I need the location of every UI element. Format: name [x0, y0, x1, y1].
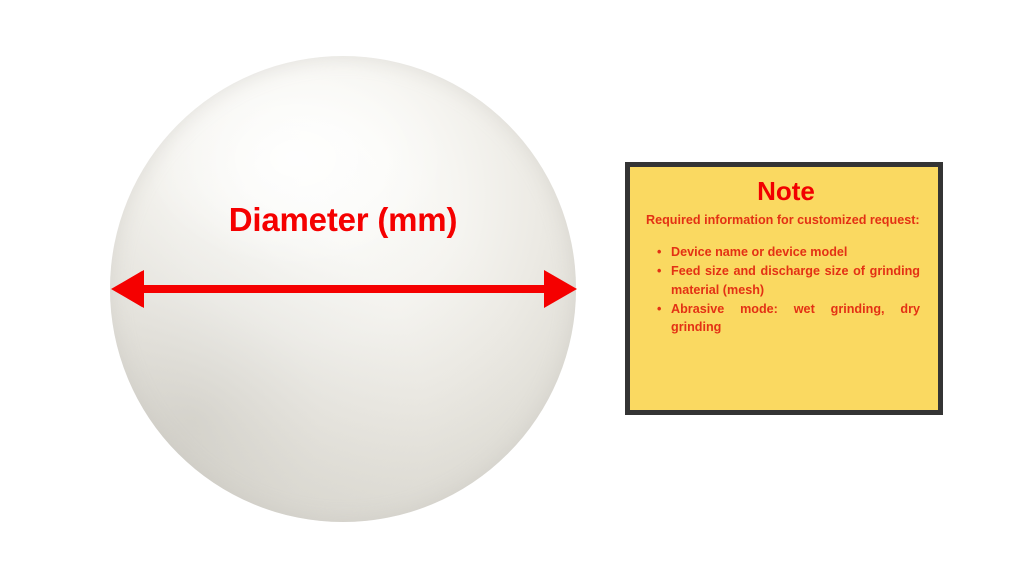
note-title: Note [646, 177, 926, 207]
bullet-icon: • [657, 300, 661, 318]
list-item: • Device name or device model [656, 243, 920, 261]
list-item-label: Abrasive mode: wet grinding, dry grindin… [671, 302, 920, 334]
bullet-icon: • [657, 262, 661, 280]
list-item: • Feed size and discharge size of grindi… [656, 262, 920, 299]
diameter-label: Diameter (mm) [0, 203, 686, 236]
note-intro-text: Required information for customized requ… [646, 211, 920, 229]
diameter-arrow [106, 262, 582, 318]
note-requirements-list: • Device name or device model • Feed siz… [646, 243, 926, 336]
arrow-head-left-solid [111, 270, 144, 308]
arrow-head-right [544, 270, 577, 308]
list-item-label: Device name or device model [671, 245, 847, 259]
list-item: • Abrasive mode: wet grinding, dry grind… [656, 300, 920, 337]
arrow-shaft [122, 285, 566, 293]
note-box: Note Required information for customized… [625, 162, 943, 415]
bullet-icon: • [657, 243, 661, 261]
list-item-label: Feed size and discharge size of grinding… [671, 264, 920, 296]
